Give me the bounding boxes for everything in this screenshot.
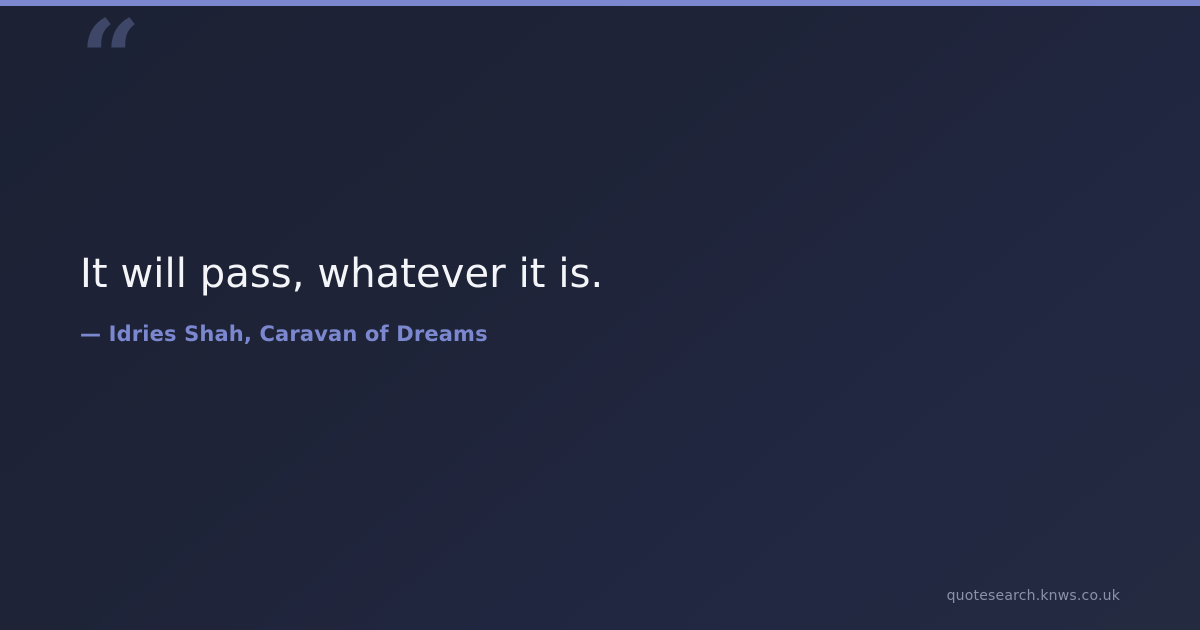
quote-text: It will pass, whatever it is. <box>80 248 1120 301</box>
accent-bar <box>0 0 1200 6</box>
quote-attribution: — Idries Shah, Caravan of Dreams <box>80 321 1120 348</box>
quote-content: It will pass, whatever it is. — Idries S… <box>80 248 1120 348</box>
quote-card: “ It will pass, whatever it is. — Idries… <box>0 0 1200 630</box>
site-url-footer: quotesearch.knws.co.uk <box>947 588 1120 604</box>
quotation-mark-icon: “ <box>80 6 139 112</box>
